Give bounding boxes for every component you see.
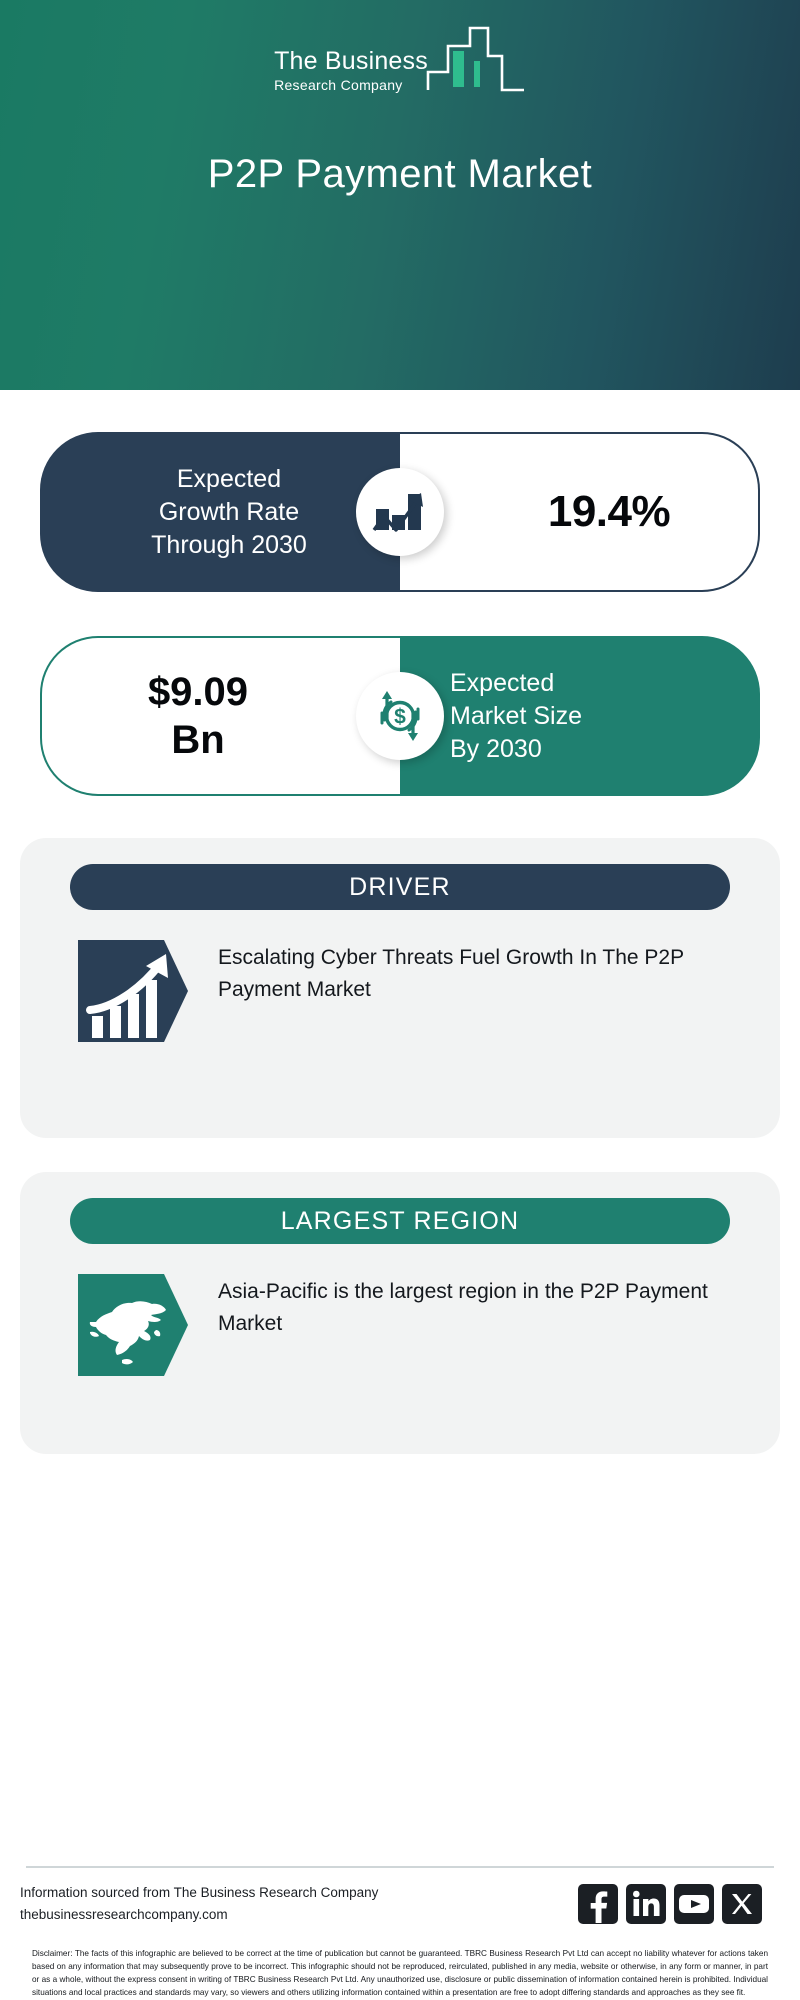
growth-rate-value-panel: 19.4% xyxy=(400,432,760,592)
market-size-label-line-1: Expected xyxy=(450,669,554,697)
market-size-label-line-3: By 2030 xyxy=(450,735,542,763)
stat-card-market-size: $9.09 Bn Expected Market Size By 2030 $ xyxy=(40,636,760,796)
page-title: P2P Payment Market xyxy=(0,152,800,197)
x-twitter-icon[interactable] xyxy=(722,1884,762,1924)
header-banner: The Business Research Company P2P Paymen… xyxy=(0,0,800,390)
youtube-icon[interactable] xyxy=(674,1884,714,1924)
largest-region-body: Asia-Pacific is the largest region in th… xyxy=(20,1270,780,1380)
brand-logo: The Business Research Company xyxy=(0,24,800,101)
region-section-wrap: LARGEST REGION Asia-Pacific is the large… xyxy=(0,1138,800,1454)
growth-chart-arrow-icon xyxy=(356,468,444,556)
footer-source: Information sourced from The Business Re… xyxy=(20,1882,378,1926)
market-size-value: $9.09 Bn xyxy=(148,668,294,764)
infographic-page: The Business Research Company P2P Paymen… xyxy=(0,0,800,2000)
asia-map-icon xyxy=(78,1270,188,1380)
growth-rate-label-line-1: Expected xyxy=(177,465,281,493)
footer: Information sourced from The Business Re… xyxy=(0,1866,800,2000)
stat-card-growth-rate: Expected Growth Rate Through 2030 19.4% xyxy=(40,432,760,592)
facebook-icon[interactable] xyxy=(578,1884,618,1924)
growth-rate-label-panel: Expected Growth Rate Through 2030 xyxy=(40,432,400,592)
driver-pill-label: DRIVER xyxy=(349,873,451,902)
svg-text:$: $ xyxy=(394,706,406,729)
market-size-label-panel: Expected Market Size By 2030 xyxy=(400,636,760,796)
driver-pill: DRIVER xyxy=(70,864,730,910)
market-size-value-panel: $9.09 Bn xyxy=(40,636,400,796)
footer-source-line-1: Information sourced from The Business Re… xyxy=(20,1882,378,1904)
market-size-label-line-2: Market Size xyxy=(450,702,582,730)
logo-line-2: Research Company xyxy=(274,78,403,92)
growth-rate-label: Expected Growth Rate Through 2030 xyxy=(133,463,307,562)
disclaimer-text: Disclaimer: The facts of this infographi… xyxy=(16,1934,784,2000)
footer-website-link[interactable]: thebusinessresearchcompany.com xyxy=(20,1904,378,1926)
driver-section-wrap: DRIVER Escalating Cyber Threats Fuel Gro… xyxy=(0,796,800,1138)
driver-body: Escalating Cyber Threats Fuel Growth In … xyxy=(20,936,780,1046)
market-size-value-line-1: $9.09 xyxy=(148,670,248,714)
linkedin-icon[interactable] xyxy=(626,1884,666,1924)
growth-rate-label-line-2: Growth Rate xyxy=(159,498,299,526)
bar-chart-logo-mark-icon xyxy=(426,24,526,99)
dollar-exchange-icon: $ xyxy=(356,672,444,760)
largest-region-text: Asia-Pacific is the largest region in th… xyxy=(218,1270,740,1340)
largest-region-pill-label: LARGEST REGION xyxy=(281,1207,520,1236)
largest-region-pill: LARGEST REGION xyxy=(70,1198,730,1244)
largest-region-section: LARGEST REGION Asia-Pacific is the large… xyxy=(20,1172,780,1454)
growth-rate-value: 19.4% xyxy=(488,487,670,537)
driver-section: DRIVER Escalating Cyber Threats Fuel Gro… xyxy=(20,838,780,1138)
driver-text: Escalating Cyber Threats Fuel Growth In … xyxy=(218,936,740,1006)
logo-line-1: The Business xyxy=(274,49,428,74)
market-size-value-line-2: Bn xyxy=(171,718,224,762)
social-links xyxy=(578,1884,780,1924)
rising-bar-chart-arrow-icon xyxy=(78,936,188,1046)
market-size-label: Expected Market Size By 2030 xyxy=(400,667,760,766)
growth-rate-label-line-3: Through 2030 xyxy=(151,531,307,559)
stat-cards: Expected Growth Rate Through 2030 19.4% xyxy=(0,390,800,796)
